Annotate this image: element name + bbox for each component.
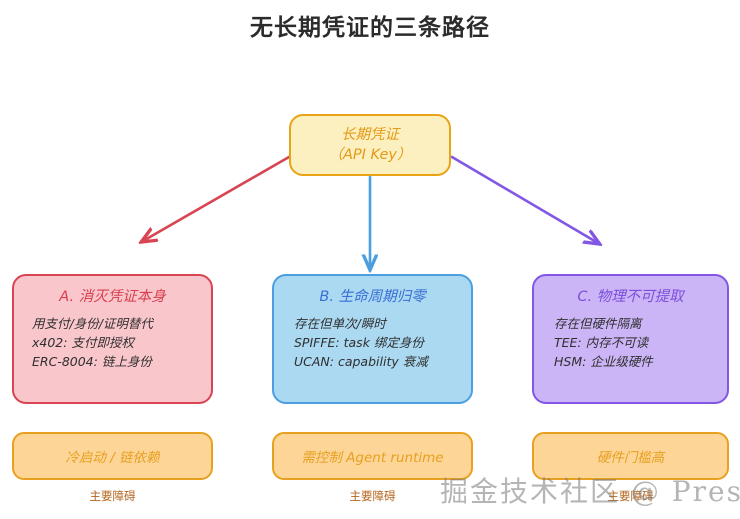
- node-obstacle-a[interactable]: 冷启动 / 链依赖: [12, 432, 213, 480]
- node-path-c[interactable]: C. 物理不可提取 存在但硬件隔离 TEE: 内存不可读 HSM: 企业级硬件: [532, 274, 729, 404]
- path-a-line-2: x402: 支付即授权: [32, 333, 211, 352]
- path-c-line-1: 存在但硬件隔离: [554, 314, 727, 333]
- path-b-body: 存在但单次/瞬时 SPIFFE: task 绑定身份 UCAN: capabil…: [274, 314, 471, 371]
- page-title: 无长期凭证的三条路径: [0, 8, 740, 42]
- path-c-line-3: HSM: 企业级硬件: [554, 352, 727, 371]
- node-path-b[interactable]: B. 生命周期归零 存在但单次/瞬时 SPIFFE: task 绑定身份 UCA…: [272, 274, 473, 404]
- path-b-heading: B. 生命周期归零: [274, 286, 471, 308]
- obstacle-b-label: 需控制 Agent runtime: [301, 446, 443, 466]
- obstacle-b-caption: 主要障碍: [272, 488, 473, 504]
- path-c-line-2: TEE: 内存不可读: [554, 333, 727, 352]
- path-a-body: 用支付/身份/证明替代 x402: 支付即授权 ERC-8004: 链上身份: [14, 314, 211, 371]
- arrow-root-to-path-a: [143, 157, 289, 241]
- path-b-line-2: SPIFFE: task 绑定身份: [294, 333, 471, 352]
- root-node-line-2: （API Key）: [328, 145, 411, 165]
- path-b-line-3: UCAN: capability 衰减: [294, 352, 471, 371]
- node-long-lived-credential[interactable]: 长期凭证 （API Key）: [289, 114, 451, 176]
- path-a-heading: A. 消灭凭证本身: [14, 286, 211, 308]
- root-node-line-1: 长期凭证: [341, 125, 399, 145]
- node-obstacle-c[interactable]: 硬件门槛高: [532, 432, 729, 480]
- obstacle-a-label: 冷启动 / 链依赖: [65, 446, 159, 466]
- node-path-a[interactable]: A. 消灭凭证本身 用支付/身份/证明替代 x402: 支付即授权 ERC-80…: [12, 274, 213, 404]
- path-a-line-3: ERC-8004: 链上身份: [32, 352, 211, 371]
- obstacle-a-caption: 主要障碍: [12, 488, 213, 504]
- arrow-root-to-path-c: [452, 157, 598, 243]
- path-a-line-1: 用支付/身份/证明替代: [32, 314, 211, 333]
- obstacle-c-label: 硬件门槛高: [597, 446, 665, 466]
- obstacle-c-caption: 主要障碍: [532, 488, 729, 504]
- node-obstacle-b[interactable]: 需控制 Agent runtime: [272, 432, 473, 480]
- path-b-line-1: 存在但单次/瞬时: [294, 314, 471, 333]
- diagram-canvas: 无长期凭证的三条路径 长期凭证 （API Key） A. 消灭凭证本身 用支付/…: [0, 0, 740, 519]
- path-c-heading: C. 物理不可提取: [534, 286, 727, 308]
- path-c-body: 存在但硬件隔离 TEE: 内存不可读 HSM: 企业级硬件: [534, 314, 727, 371]
